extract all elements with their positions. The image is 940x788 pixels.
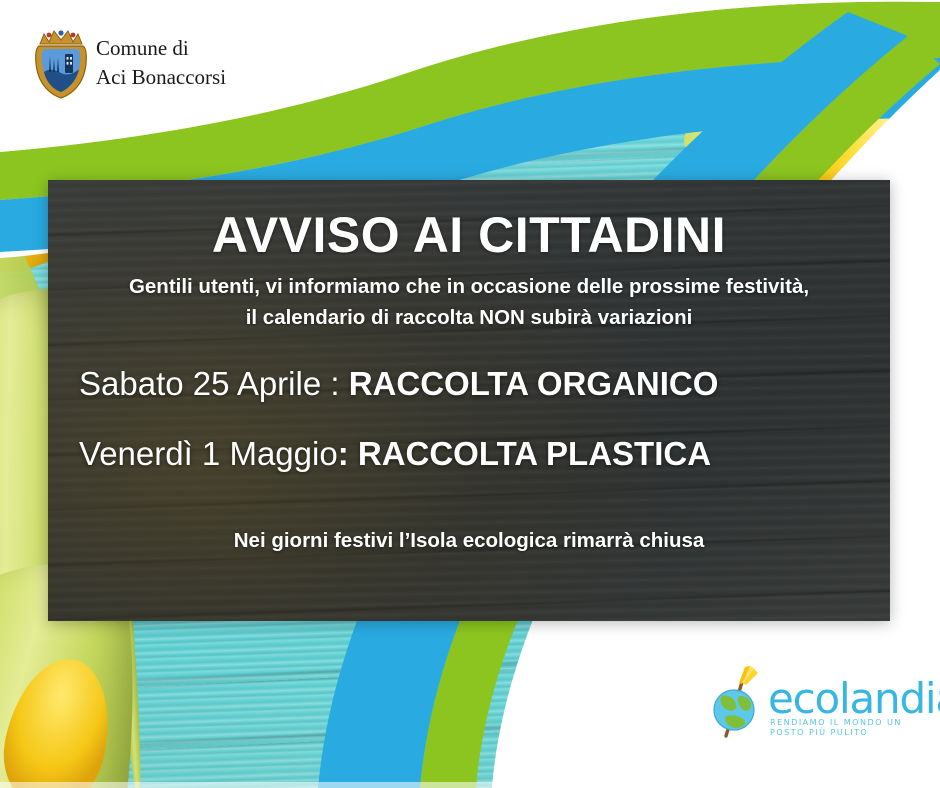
poster-canvas: Comune di Aci Bonaccorsi AVVISO AI CITTA… [0, 0, 940, 788]
notice-footnote: Nei giorni festivi l’Isola ecologica rim… [48, 529, 890, 553]
collection-schedule: Sabato 25 Aprile : RACCOLTA ORGANICO Ven… [66, 366, 872, 507]
ecolandia-logo: ecolandia RENDIAMO IL MONDO UN POSTO PIÙ… [706, 666, 918, 750]
municipality-line-2: Aci Bonaccorsi [96, 63, 226, 92]
notice-title: AVVISO AI CITTADINI [48, 206, 890, 264]
coat-of-arms-icon [32, 26, 90, 100]
schedule-day: Sabato 25 Aprile : [79, 365, 349, 402]
notice-subtitle: Gentili utenti, vi informiamo che in occ… [88, 272, 850, 334]
notice-panel: AVVISO AI CITTADINI Gentili utenti, vi i… [48, 180, 890, 621]
schedule-day: Venerdì 1 Maggio [79, 435, 338, 472]
municipality-name: Comune di Aci Bonaccorsi [96, 34, 226, 92]
schedule-row: Venerdì 1 Maggio: RACCOLTA PLASTICA [66, 436, 872, 472]
subtitle-line-2: il calendario di raccolta NON subirà var… [88, 303, 850, 334]
logo-tagline: RENDIAMO IL MONDO UN POSTO PIÙ PULITO [770, 717, 918, 737]
subtitle-line-1: Gentili utenti, vi informiamo che in occ… [88, 272, 850, 303]
schedule-collection: RACCOLTA PLASTICA [358, 435, 711, 472]
schedule-row: Sabato 25 Aprile : RACCOLTA ORGANICO [66, 366, 872, 402]
globe-with-broom-icon [706, 666, 768, 750]
schedule-collection: RACCOLTA ORGANICO [349, 365, 719, 402]
municipality-line-1: Comune di [96, 34, 226, 63]
logo-wordmark: ecolandia [768, 674, 940, 723]
schedule-separator: : [338, 435, 358, 472]
